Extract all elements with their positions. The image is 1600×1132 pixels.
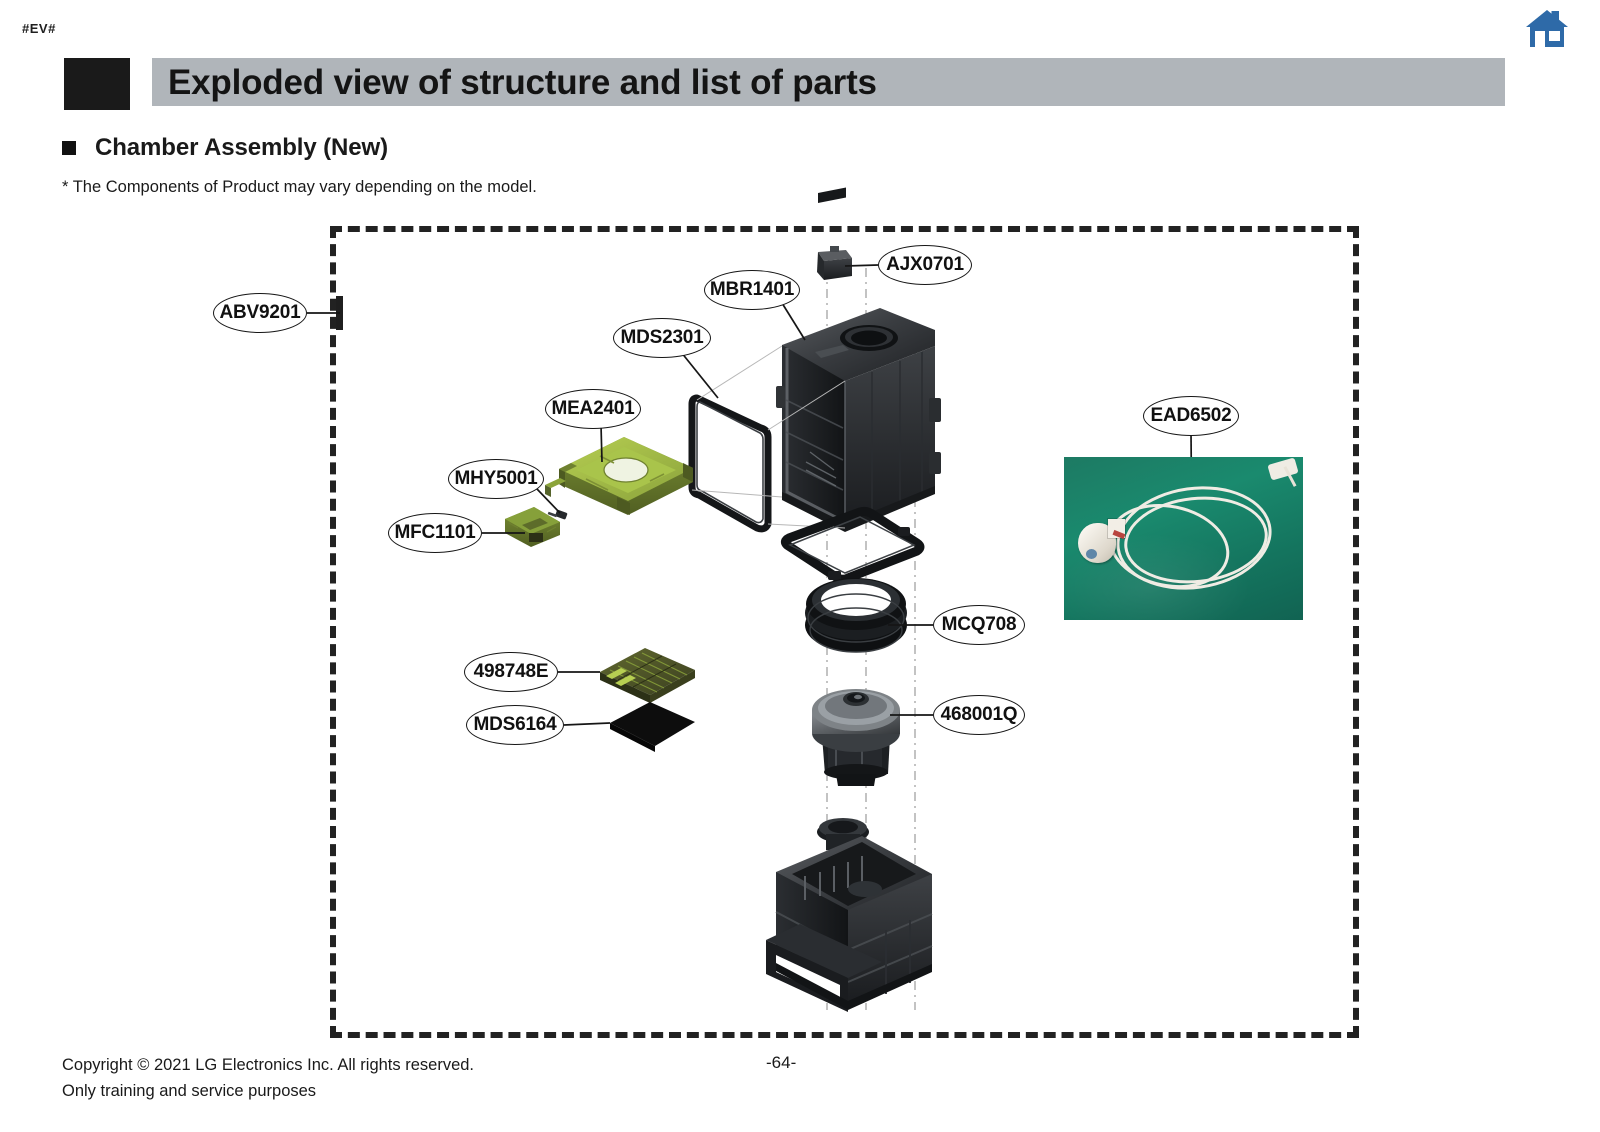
callout-label: 468001Q	[941, 704, 1018, 726]
square-bullet-icon	[62, 141, 76, 155]
ev-tag: #EV#	[22, 21, 56, 36]
copyright-line-1: Copyright © 2021 LG Electronics Inc. All…	[62, 1052, 474, 1078]
callout-label: MFC1101	[395, 522, 476, 544]
callout-abv9201[interactable]: ABV9201	[213, 293, 307, 333]
callout-468001q[interactable]: 468001Q	[933, 695, 1025, 735]
callout-label: MHY5001	[454, 468, 537, 490]
callout-label: MBR1401	[710, 279, 794, 301]
callout-ajx0701[interactable]: AJX0701	[878, 245, 972, 285]
photo-sensor-eye	[1086, 549, 1097, 559]
callout-mfc1101[interactable]: MFC1101	[388, 513, 482, 553]
callout-mds6164[interactable]: MDS6164	[466, 705, 564, 745]
callout-mea2401[interactable]: MEA2401	[545, 389, 641, 429]
page-number: -64-	[766, 1053, 796, 1073]
title-accent-square	[64, 58, 130, 110]
footer-copyright: Copyright © 2021 LG Electronics Inc. All…	[62, 1052, 474, 1104]
diagram-frame	[330, 226, 1359, 1038]
callout-label: 498748E	[474, 661, 549, 683]
callout-label: MEA2401	[551, 398, 634, 420]
callout-498748e[interactable]: 498748E	[464, 652, 558, 692]
callout-mhy5001[interactable]: MHY5001	[448, 459, 544, 499]
home-icon[interactable]	[1524, 7, 1570, 51]
photo-corner-clip	[1267, 457, 1298, 480]
section-heading: Chamber Assembly (New)	[62, 134, 388, 162]
callout-label: MCQ708	[942, 614, 1017, 636]
callout-label: MDS6164	[473, 714, 556, 736]
callout-ead6502[interactable]: EAD6502	[1143, 396, 1239, 436]
callout-mbr1401[interactable]: MBR1401	[704, 270, 800, 310]
callout-label: ABV9201	[220, 302, 301, 324]
section-note: * The Components of Product may vary dep…	[62, 178, 537, 197]
callout-mds2301[interactable]: MDS2301	[613, 318, 711, 358]
section-heading-label: Chamber Assembly (New)	[95, 134, 388, 162]
page-title: Exploded view of structure and list of p…	[168, 59, 877, 107]
callout-label: AJX0701	[886, 254, 964, 276]
callout-label: EAD6502	[1151, 405, 1232, 427]
callout-mcq708[interactable]: MCQ708	[933, 605, 1025, 645]
callout-label: MDS2301	[620, 327, 703, 349]
copyright-line-2: Only training and service purposes	[62, 1078, 474, 1104]
photo-ead6502	[1064, 457, 1303, 620]
home-icon-glyph	[1524, 7, 1570, 51]
title-band: Exploded view of structure and list of p…	[64, 58, 1505, 110]
